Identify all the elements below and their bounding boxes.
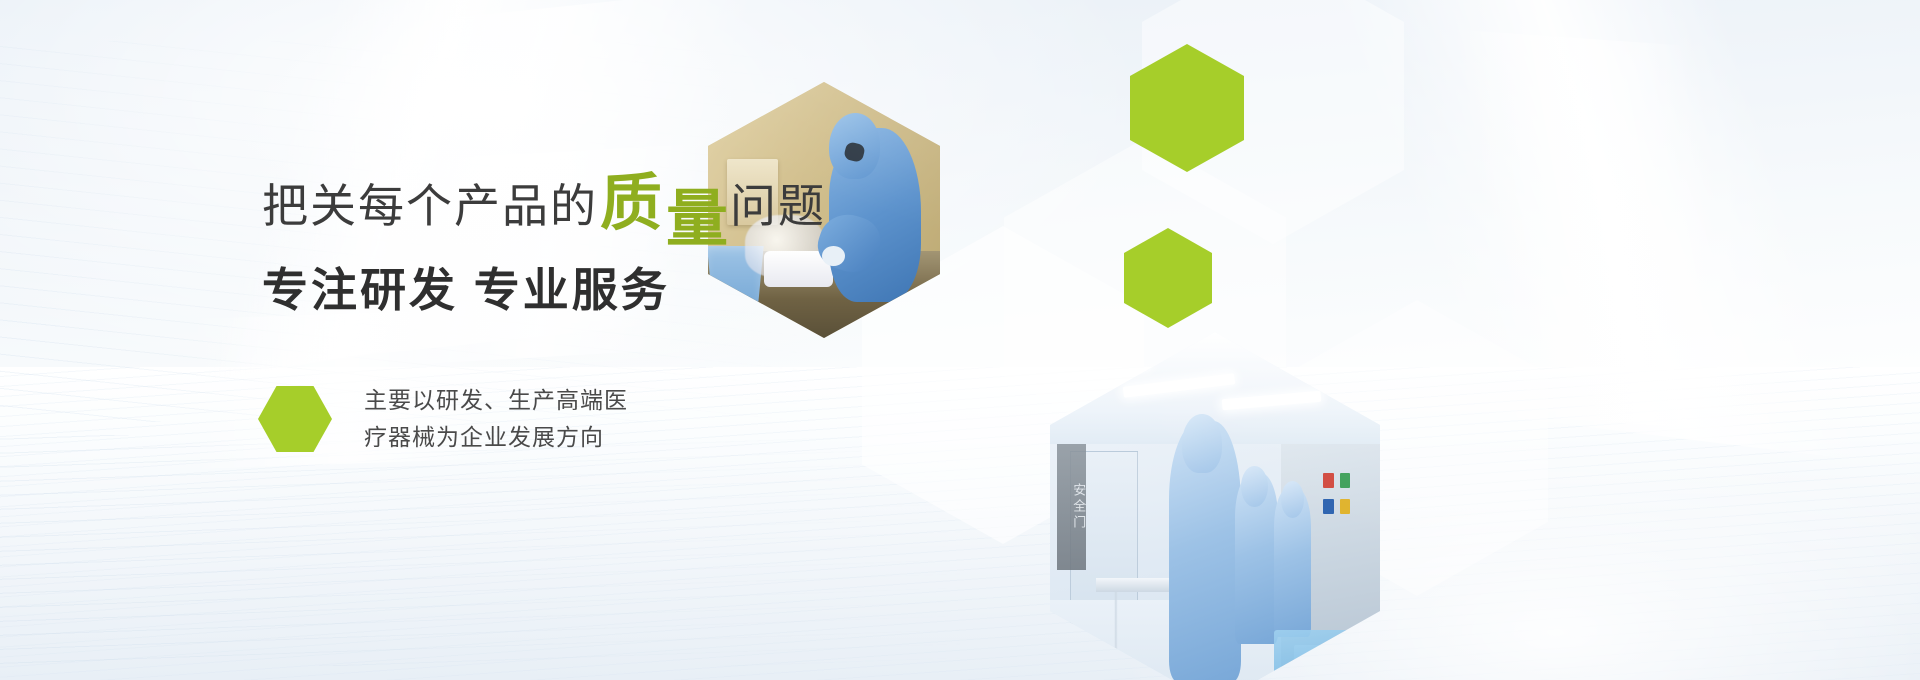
subtitle-text: 主要以研发、生产高端医 疗器械为企业发展方向: [364, 382, 628, 457]
headline-accent-liang: 量: [666, 192, 728, 248]
headline-part-2: 问题: [730, 182, 826, 232]
headline-accent-zhi: 质: [600, 176, 662, 232]
accent-hex-subtitle: [258, 386, 332, 452]
headline-line-2: 专注研发 专业服务: [262, 254, 822, 320]
hero-banner: 安全门: [0, 0, 1920, 680]
subtitle-row: 主要以研发、生产高端医 疗器械为企业发展方向: [262, 382, 822, 457]
banner-copy: 把关每个产品的 质 量 问题 专注研发 专业服务 主要以研发、生产高端医 疗器械…: [262, 176, 822, 456]
subtitle-line-1: 主要以研发、生产高端医: [364, 382, 628, 419]
headline-line-1: 把关每个产品的 质 量 问题: [262, 176, 822, 232]
subtitle-line-2: 疗器械为企业发展方向: [364, 419, 628, 456]
headline-part-1: 把关每个产品的: [262, 182, 598, 232]
